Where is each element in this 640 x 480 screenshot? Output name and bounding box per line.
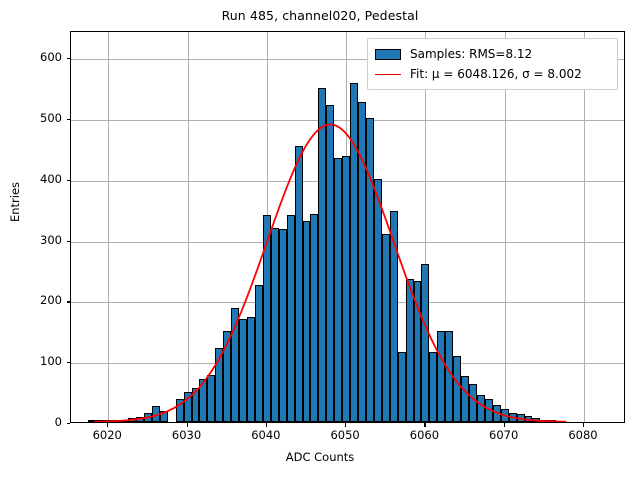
bar-swatch-icon [375, 49, 401, 60]
x-tick-mark [504, 423, 505, 427]
x-tick-label: 6070 [474, 428, 534, 442]
x-tick-label: 6030 [157, 428, 217, 442]
x-tick-mark [583, 423, 584, 427]
x-tick-label: 6080 [553, 428, 613, 442]
legend-label-samples: Samples: RMS=8.12 [410, 47, 532, 61]
x-tick-label: 6020 [77, 428, 137, 442]
y-tick-mark [67, 58, 71, 59]
x-tick-mark [187, 423, 188, 427]
y-tick-mark [67, 180, 71, 181]
y-axis-label: Entries [8, 122, 22, 282]
x-tick-label: 6040 [236, 428, 296, 442]
y-tick-label: 600 [2, 50, 62, 64]
y-tick-mark [67, 423, 71, 424]
x-tick-label: 6060 [394, 428, 454, 442]
matplotlib-figure: Run 485, channel020, Pedestal 6020603060… [0, 0, 640, 480]
y-tick-label: 100 [2, 354, 62, 368]
y-tick-mark [67, 119, 71, 120]
legend-label-fit: Fit: μ = 6048.126, σ = 8.002 [410, 67, 582, 81]
y-tick-mark [67, 362, 71, 363]
x-tick-mark [266, 423, 267, 427]
y-tick-mark [67, 301, 71, 302]
legend-item-samples: Samples: RMS=8.12 [375, 44, 610, 64]
page-title: Run 485, channel020, Pedestal [0, 8, 640, 23]
gaussian-fit-curve [71, 32, 624, 422]
x-tick-label: 6050 [315, 428, 375, 442]
x-tick-mark [107, 423, 108, 427]
x-tick-mark [424, 423, 425, 427]
y-tick-label: 0 [2, 415, 62, 429]
legend-item-fit: Fit: μ = 6048.126, σ = 8.002 [375, 64, 610, 84]
line-swatch-icon [375, 74, 401, 75]
y-tick-mark [67, 241, 71, 242]
x-tick-mark [345, 423, 346, 427]
x-axis-label: ADC Counts [0, 450, 640, 464]
chart-legend: Samples: RMS=8.12 Fit: μ = 6048.126, σ =… [367, 38, 618, 90]
y-tick-label: 200 [2, 293, 62, 307]
